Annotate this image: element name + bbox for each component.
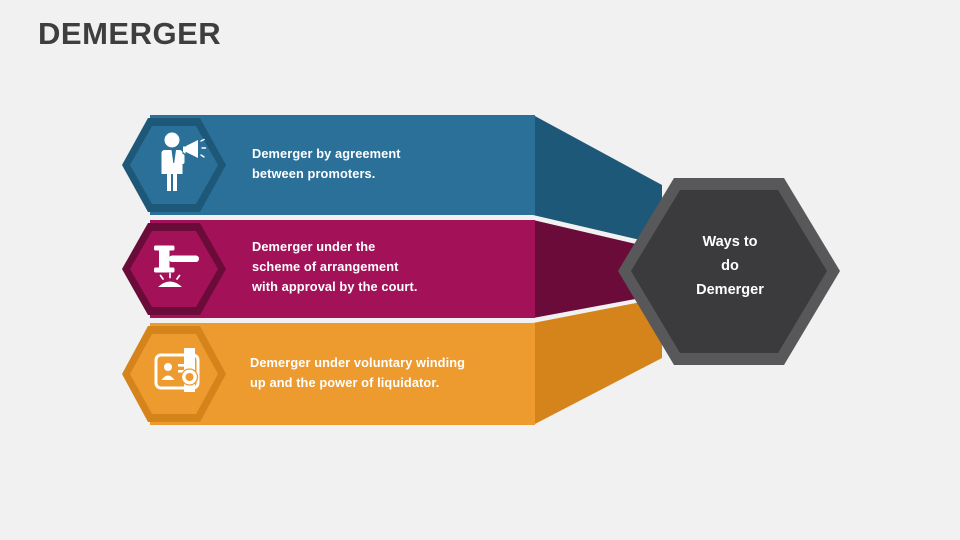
demerger-diagram: [0, 0, 960, 540]
row-orange-label: Demerger under voluntary winding up and …: [250, 353, 465, 393]
slide-canvas: DEMERGER: [0, 0, 960, 540]
row-orange-wedge: [533, 298, 662, 425]
row-magenta-label: Demerger under the scheme of arrangement…: [252, 237, 418, 297]
hub-label: Ways to do Demerger: [660, 230, 800, 302]
row-blue-label: Demerger by agreement between promoters.: [252, 144, 401, 184]
